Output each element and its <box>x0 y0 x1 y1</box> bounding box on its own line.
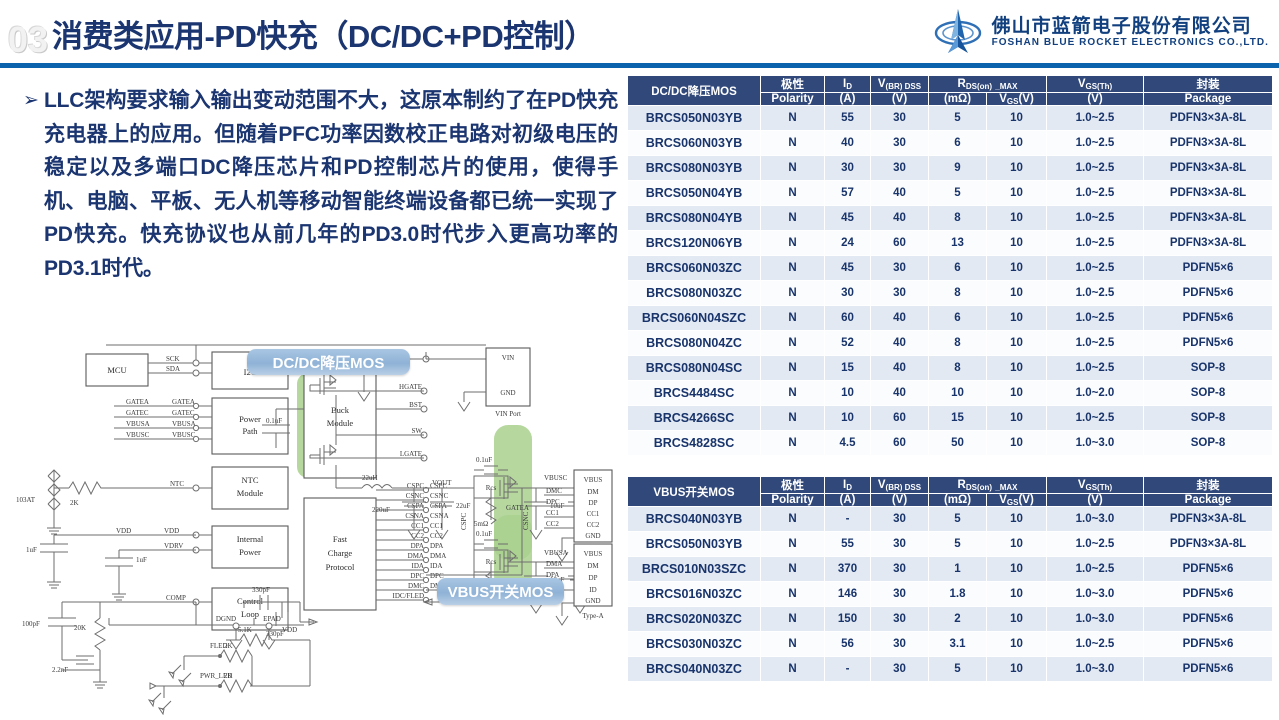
table-cell: 10 <box>987 331 1047 356</box>
svg-text:220uF: 220uF <box>372 506 390 514</box>
table-cell: SOP-8 <box>1144 406 1273 431</box>
table-cell: 5 <box>929 181 987 206</box>
svg-text:CC1: CC1 <box>587 510 600 518</box>
svg-text:SCK: SCK <box>166 355 180 363</box>
part-number-cell: BRCS4828SC <box>628 431 761 456</box>
bullet-paragraph: ➢ LLC架构要求输入输出变动范围不大，这原本制约了在PD快充充电器上的应用。但… <box>18 84 618 285</box>
part-number-cell: BRCS010N03SZC <box>628 557 761 582</box>
svg-text:CSNA: CSNA <box>405 512 424 520</box>
table-cell: N <box>761 657 825 682</box>
svg-text:DPC: DPC <box>410 572 424 580</box>
table-cell: PDFN5×6 <box>1144 632 1273 657</box>
svg-text:Loop: Loop <box>241 609 259 619</box>
table-cell: N <box>761 206 825 231</box>
table-cell: PDFN3×3A-8L <box>1144 206 1273 231</box>
svg-text:MCU: MCU <box>107 365 126 375</box>
svg-text:Module: Module <box>237 488 264 498</box>
svg-text:5.1K: 5.1K <box>238 626 252 634</box>
svg-text:CC1: CC1 <box>546 509 559 517</box>
table-cell: 15 <box>929 406 987 431</box>
table-cell: 30 <box>871 607 929 632</box>
svg-text:IDA: IDA <box>430 562 442 570</box>
table-cell: 10 <box>825 381 871 406</box>
svg-text:GATEC: GATEC <box>126 409 149 417</box>
header-id-unit: (A) <box>825 93 871 106</box>
table-cell: N <box>761 131 825 156</box>
company-logo: 佛山市蓝箭电子股份有限公司 FOSHAN BLUE ROCKET ELECTRO… <box>932 6 1269 58</box>
table-cell: 60 <box>825 306 871 331</box>
table-cell: 50 <box>929 431 987 456</box>
svg-text:NTC: NTC <box>170 480 184 488</box>
table-cell: - <box>825 507 871 532</box>
table-cell: 370 <box>825 557 871 582</box>
svg-text:VDD: VDD <box>282 626 297 634</box>
svg-text:VOUT: VOUT <box>432 479 452 487</box>
table-cell: 9 <box>929 156 987 181</box>
header-vgsth: VGS(Th) <box>1047 477 1144 494</box>
dcdc-buck-mos-table: DC/DC降压MOS 极性 ID V(BR) DSS RDS(on) _MAX … <box>627 75 1273 456</box>
table-cell: PDFN5×6 <box>1144 306 1273 331</box>
svg-text:GATEC: GATEC <box>172 409 195 417</box>
table-cell: 1.0~2.5 <box>1047 206 1144 231</box>
svg-text:IDA: IDA <box>412 562 424 570</box>
table-cell: 10 <box>825 406 871 431</box>
table-cell: 30 <box>871 557 929 582</box>
table-cell: 1.0~2.5 <box>1047 281 1144 306</box>
table-cell: 10 <box>987 206 1047 231</box>
table-cell: 10 <box>987 431 1047 456</box>
table-cell: 10 <box>987 256 1047 281</box>
table-cell: N <box>761 106 825 131</box>
part-number-cell: BRCS050N03YB <box>628 106 761 131</box>
table-cell: 150 <box>825 607 871 632</box>
svg-text:DMA: DMA <box>546 560 562 568</box>
table-cell: 5 <box>929 657 987 682</box>
part-number-cell: BRCS016N03ZC <box>628 582 761 607</box>
table-cell: 45 <box>825 206 871 231</box>
table-cell: 56 <box>825 632 871 657</box>
table-cell: SOP-8 <box>1144 381 1273 406</box>
company-name-en: FOSHAN BLUE ROCKET ELECTRONICS CO.,LTD. <box>992 37 1269 49</box>
table-cell: PDFN5×6 <box>1144 256 1273 281</box>
table-row: BRCS4828SCN4.56050101.0~3.0SOP-8 <box>628 431 1273 456</box>
table-row: BRCS080N04ZCN52408101.0~2.5PDFN5×6 <box>628 331 1273 356</box>
table-cell: N <box>761 582 825 607</box>
table-cell: N <box>761 406 825 431</box>
table-cell: N <box>761 607 825 632</box>
table-row: BRCS050N03YBN55305101.0~2.5PDFN3×3A-8L <box>628 106 1273 131</box>
table-cell: 10 <box>987 181 1047 206</box>
table-cell: 1 <box>929 557 987 582</box>
table-cell: 15 <box>825 356 871 381</box>
svg-text:VIN: VIN <box>502 354 514 362</box>
svg-text:Type-A: Type-A <box>582 612 603 620</box>
table-cell: N <box>761 381 825 406</box>
svg-text:330pF: 330pF <box>252 586 270 594</box>
table-cell: 1.0~2.5 <box>1047 331 1144 356</box>
table-cell: 1.0~2.5 <box>1047 406 1144 431</box>
table-cell: N <box>761 632 825 657</box>
table-cell: 10 <box>987 281 1047 306</box>
table-cell: N <box>761 431 825 456</box>
part-number-cell: BRCS040N03ZC <box>628 657 761 682</box>
header-package-cn: 封装 <box>1144 76 1273 93</box>
table-cell: PDFN3×3A-8L <box>1144 181 1273 206</box>
table-cell: 30 <box>825 281 871 306</box>
table-cell: 1.8 <box>929 582 987 607</box>
table-row: BRCS060N03ZCN45306101.0~2.5PDFN5×6 <box>628 256 1273 281</box>
table-cell: 40 <box>871 306 929 331</box>
header-vbrdss: V(BR) DSS <box>871 76 929 93</box>
header-rdson-unit: (mΩ) <box>929 93 987 106</box>
table-cell: SOP-8 <box>1144 431 1273 456</box>
part-number-cell: BRCS4266SC <box>628 406 761 431</box>
header-rdson-unit: (mΩ) <box>929 494 987 507</box>
svg-text:GND: GND <box>585 532 600 540</box>
svg-text:DPA: DPA <box>430 542 443 550</box>
svg-text:DMA: DMA <box>430 552 446 560</box>
table-row: BRCS060N03YBN40306101.0~2.5PDFN3×3A-8L <box>628 131 1273 156</box>
table-cell: 10 <box>987 131 1047 156</box>
table-cell: PDFN5×6 <box>1144 657 1273 682</box>
table-cell: 1.0~2.5 <box>1047 131 1144 156</box>
table-cell: 10 <box>987 607 1047 632</box>
table-cell: 40 <box>871 381 929 406</box>
table-cell: 24 <box>825 231 871 256</box>
table-cell: PDFN3×3A-8L <box>1144 106 1273 131</box>
bullet-text: LLC架构要求输入输出变动范围不大，这原本制约了在PD快充充电器上的应用。但随着… <box>44 84 618 285</box>
part-number-cell: BRCS080N03ZC <box>628 281 761 306</box>
part-number-cell: BRCS050N03YB <box>628 532 761 557</box>
svg-text:DGND: DGND <box>216 615 236 623</box>
table-cell: 5 <box>929 507 987 532</box>
table-row: BRCS080N04SCN15408101.0~2.5SOP-8 <box>628 356 1273 381</box>
table-cell: 10 <box>987 231 1047 256</box>
table-cell: PDFN3×3A-8L <box>1144 156 1273 181</box>
table-cell: 10 <box>987 156 1047 181</box>
svg-text:CC1: CC1 <box>430 522 443 530</box>
table-cell: 52 <box>825 331 871 356</box>
header-package-en: Package <box>1144 93 1273 106</box>
svg-text:Protocol: Protocol <box>326 562 355 572</box>
svg-text:Power: Power <box>239 414 261 424</box>
part-number-cell: BRCS060N03YB <box>628 131 761 156</box>
table-cell: 30 <box>825 156 871 181</box>
table-cell: 1.0~2.5 <box>1047 106 1144 131</box>
table-row: BRCS4266SCN106015101.0~2.5SOP-8 <box>628 406 1273 431</box>
svg-text:VBUSA: VBUSA <box>172 420 196 428</box>
table-cell: N <box>761 156 825 181</box>
table-cell: 146 <box>825 582 871 607</box>
header-id-unit: (A) <box>825 494 871 507</box>
svg-text:DPA: DPA <box>411 542 424 550</box>
table-cell: 10 <box>987 406 1047 431</box>
table-cell: 40 <box>871 206 929 231</box>
table-cell: N <box>761 256 825 281</box>
table1-body: BRCS050N03YBN55305101.0~2.5PDFN3×3A-8LBR… <box>628 106 1273 456</box>
table-cell: 60 <box>871 406 929 431</box>
table-row: BRCS020N03ZCN150302101.0~3.0PDFN5×6 <box>628 607 1273 632</box>
svg-text:22uH: 22uH <box>362 474 378 482</box>
table-cell: 10 <box>987 507 1047 532</box>
svg-text:VBUSC: VBUSC <box>126 431 150 439</box>
table-cell: 10 <box>987 356 1047 381</box>
svg-text:DP: DP <box>589 499 598 507</box>
table-row: BRCS050N04YBN57405101.0~2.5PDFN3×3A-8L <box>628 181 1273 206</box>
svg-text:1uF: 1uF <box>26 546 37 554</box>
svg-text:VIN Port: VIN Port <box>495 410 521 418</box>
table-cell: 10 <box>987 632 1047 657</box>
part-number-cell: BRCS030N03ZC <box>628 632 761 657</box>
header-polarity-cn: 极性 <box>761 477 825 494</box>
table-header-row-1: DC/DC降压MOS 极性 ID V(BR) DSS RDS(on) _MAX … <box>628 76 1273 93</box>
part-number-cell: BRCS050N04YB <box>628 181 761 206</box>
table-row: BRCS060N04SZCN60406101.0~2.5PDFN5×6 <box>628 306 1273 331</box>
table-cell: PDFN3×3A-8L <box>1144 532 1273 557</box>
table1-title-cell: DC/DC降压MOS <box>628 76 761 106</box>
header-vgsth-unit: (V) <box>1047 93 1144 106</box>
table-cell: N <box>761 331 825 356</box>
table-cell: PDFN5×6 <box>1144 607 1273 632</box>
page-title: 消费类应用-PD快充（DC/DC+PD控制） <box>52 17 595 57</box>
table-cell: N <box>761 281 825 306</box>
svg-text:CSNC: CSNC <box>430 492 449 500</box>
table-cell: 6 <box>929 306 987 331</box>
table-cell: 8 <box>929 331 987 356</box>
table-cell: 30 <box>871 281 929 306</box>
svg-text:LGATE: LGATE <box>400 450 422 458</box>
table-cell: 5 <box>929 532 987 557</box>
svg-text:Module: Module <box>327 418 354 428</box>
header-package-cn: 封装 <box>1144 477 1273 494</box>
table-cell: 40 <box>871 331 929 356</box>
table-cell: 1.0~3.0 <box>1047 431 1144 456</box>
svg-text:5mΩ: 5mΩ <box>474 520 488 528</box>
table-cell: 4.5 <box>825 431 871 456</box>
table-cell: PDFN3×3A-8L <box>1144 131 1273 156</box>
vbus-switch-mos-table: VBUS开关MOS 极性 ID V(BR) DSS RDS(on) _MAX V… <box>627 476 1273 682</box>
table-cell: 10 <box>987 582 1047 607</box>
header-rdson: RDS(on) _MAX <box>929 477 1047 494</box>
svg-text:20K: 20K <box>74 624 86 632</box>
header-vbrdss-unit: (V) <box>871 494 929 507</box>
table-row: BRCS030N03ZCN56303.1101.0~2.5PDFN5×6 <box>628 632 1273 657</box>
table-cell: 60 <box>871 431 929 456</box>
table-row: BRCS050N03YBN55305101.0~2.5PDFN3×3A-8L <box>628 532 1273 557</box>
part-number-cell: BRCS080N04SC <box>628 356 761 381</box>
svg-text:Buck: Buck <box>331 405 350 415</box>
svg-text:Fast: Fast <box>333 534 348 544</box>
svg-text:VBUSA: VBUSA <box>544 549 568 557</box>
svg-text:CSNA: CSNA <box>430 512 449 520</box>
svg-text:VDRV: VDRV <box>164 542 183 550</box>
header-id: ID <box>825 477 871 494</box>
svg-text:GATEA: GATEA <box>126 398 149 406</box>
table-cell: 10 <box>987 657 1047 682</box>
header-vgsth: VGS(Th) <box>1047 76 1144 93</box>
section-number: 03 <box>8 20 48 60</box>
part-number-cell: BRCS060N04SZC <box>628 306 761 331</box>
svg-text:IDC/FLED: IDC/FLED <box>393 592 425 600</box>
svg-text:SDA: SDA <box>166 365 180 373</box>
table-cell: 10 <box>987 106 1047 131</box>
svg-text:DPC: DPC <box>546 498 560 506</box>
table-header-row-1: VBUS开关MOS 极性 ID V(BR) DSS RDS(on) _MAX V… <box>628 477 1273 494</box>
table-cell: N <box>761 557 825 582</box>
blue-rocket-arrow-logo-icon <box>932 6 984 58</box>
table-row: BRCS120N06YBN246013101.0~2.5PDFN3×3A-8L <box>628 231 1273 256</box>
bullet-arrow-icon: ➢ <box>18 84 44 285</box>
svg-text:HGATE: HGATE <box>399 383 422 391</box>
svg-text:VBUSA: VBUSA <box>126 420 150 428</box>
table-row: BRCS4484SCN104010101.0~2.0SOP-8 <box>628 381 1273 406</box>
svg-text:CC1: CC1 <box>411 522 424 530</box>
table-cell: 55 <box>825 106 871 131</box>
application-circuit-schematic: .w{fill:none;stroke:#6e6e6e;stroke-width… <box>14 330 618 715</box>
svg-text:2K: 2K <box>70 499 79 507</box>
svg-text:NTC: NTC <box>242 475 259 485</box>
svg-text:ID: ID <box>589 586 596 594</box>
table-row: BRCS040N03YBN-305101.0~3.0PDFN3×3A-8L <box>628 507 1273 532</box>
table-cell: PDFN3×3A-8L <box>1144 507 1273 532</box>
table-cell: N <box>761 306 825 331</box>
svg-text:22uF: 22uF <box>456 502 471 510</box>
svg-text:VDD: VDD <box>116 527 131 535</box>
table-cell: 6 <box>929 131 987 156</box>
table-cell: 30 <box>871 632 929 657</box>
table-cell: 1.0~2.5 <box>1047 632 1144 657</box>
table-cell: 30 <box>871 131 929 156</box>
table-cell: N <box>761 532 825 557</box>
svg-text:CSNC: CSNC <box>522 511 530 530</box>
table-cell: 1.0~2.5 <box>1047 256 1144 281</box>
part-number-cell: BRCS4484SC <box>628 381 761 406</box>
svg-text:DP: DP <box>589 574 598 582</box>
table-cell: 30 <box>871 582 929 607</box>
dcdc-buck-mos-callout: DC/DC降压MOS <box>247 349 410 375</box>
header-vgs-v: VGS(V) <box>987 93 1047 106</box>
header-id: ID <box>825 76 871 93</box>
svg-text:CSPC: CSPC <box>407 482 424 490</box>
header-package-en: Package <box>1144 494 1273 507</box>
svg-text:Power: Power <box>239 547 261 557</box>
table-cell: N <box>761 231 825 256</box>
svg-text:CSNC: CSNC <box>406 492 425 500</box>
table-cell: 13 <box>929 231 987 256</box>
table-row: BRCS010N03SZCN370301101.0~2.5PDFN5×6 <box>628 557 1273 582</box>
svg-text:VDD: VDD <box>164 527 179 535</box>
table-cell: 40 <box>871 181 929 206</box>
svg-text:VBUS: VBUS <box>584 476 603 484</box>
svg-text:VBUSC: VBUSC <box>172 431 196 439</box>
part-number-cell: BRCS020N03ZC <box>628 607 761 632</box>
table-cell: 6 <box>929 256 987 281</box>
table-cell: - <box>825 657 871 682</box>
part-number-cell: BRCS060N03ZC <box>628 256 761 281</box>
table-cell: 30 <box>871 532 929 557</box>
slide-root: 03 消费类应用-PD快充（DC/DC+PD控制） 佛山市蓝箭电子股份有限公司 … <box>0 0 1279 720</box>
table-cell: N <box>761 181 825 206</box>
svg-text:GND: GND <box>500 389 515 397</box>
table-cell: 8 <box>929 206 987 231</box>
table-cell: 1.0~3.0 <box>1047 657 1144 682</box>
header-polarity-cn: 极性 <box>761 76 825 93</box>
table-cell: 3.1 <box>929 632 987 657</box>
table2-title-cell: VBUS开关MOS <box>628 477 761 507</box>
svg-text:VBUS: VBUS <box>584 550 603 558</box>
table-cell: PDFN3×3A-8L <box>1144 231 1273 256</box>
svg-text:EPAD: EPAD <box>263 615 281 623</box>
table-cell: 8 <box>929 281 987 306</box>
table-cell: 10 <box>987 381 1047 406</box>
svg-text:CSPC: CSPC <box>460 513 468 530</box>
table2-body: BRCS040N03YBN-305101.0~3.0PDFN3×3A-8LBRC… <box>628 507 1273 682</box>
table-row: BRCS080N04YBN45408101.0~2.5PDFN3×3A-8L <box>628 206 1273 231</box>
svg-text:0.1uF: 0.1uF <box>476 530 492 538</box>
svg-text:DM: DM <box>587 562 599 570</box>
table-cell: 1.0~2.5 <box>1047 156 1144 181</box>
table-cell: 1.0~2.5 <box>1047 306 1144 331</box>
header-divider <box>0 63 1279 68</box>
table-cell: 1.0~3.0 <box>1047 507 1144 532</box>
svg-text:CC2: CC2 <box>546 520 559 528</box>
svg-text:DM: DM <box>587 488 599 496</box>
svg-text:0.1uF: 0.1uF <box>476 456 492 464</box>
svg-text:GATEA: GATEA <box>172 398 195 406</box>
svg-text:BST: BST <box>409 401 423 409</box>
table-row: BRCS080N03YBN30309101.0~2.5PDFN3×3A-8L <box>628 156 1273 181</box>
table-cell: 30 <box>871 256 929 281</box>
part-number-cell: BRCS080N04ZC <box>628 331 761 356</box>
table-cell: 1.0~2.5 <box>1047 356 1144 381</box>
table-cell: 10 <box>987 532 1047 557</box>
table-cell: N <box>761 356 825 381</box>
svg-text:DMC: DMC <box>408 582 424 590</box>
header-polarity-en: Polarity <box>761 93 825 106</box>
svg-text:Path: Path <box>242 426 258 436</box>
table-cell: 1.0~2.5 <box>1047 181 1144 206</box>
header-vbrdss-unit: (V) <box>871 93 929 106</box>
table-cell: 40 <box>825 131 871 156</box>
table-cell: 1.0~2.5 <box>1047 532 1144 557</box>
company-name-cn: 佛山市蓝箭电子股份有限公司 <box>992 16 1269 37</box>
svg-text:100pF: 100pF <box>22 620 40 628</box>
svg-text:2K: 2K <box>224 672 233 680</box>
table-cell: 10 <box>987 557 1047 582</box>
part-number-cell: BRCS080N03YB <box>628 156 761 181</box>
table-cell: 60 <box>871 231 929 256</box>
svg-text:1uF: 1uF <box>136 556 147 564</box>
svg-text:Charge: Charge <box>328 548 353 558</box>
svg-text:COMP: COMP <box>166 594 186 602</box>
table-cell: 55 <box>825 532 871 557</box>
header-vgsth-unit: (V) <box>1047 494 1144 507</box>
header-vgs-v: VGS(V) <box>987 494 1047 507</box>
table-cell: 1.0~3.0 <box>1047 607 1144 632</box>
part-number-cell: BRCS080N04YB <box>628 206 761 231</box>
svg-text:Internal: Internal <box>237 534 264 544</box>
table-cell: PDFN5×6 <box>1144 582 1273 607</box>
header-vbrdss: V(BR) DSS <box>871 477 929 494</box>
table-cell: 1.0~3.0 <box>1047 582 1144 607</box>
table-cell: PDFN5×6 <box>1144 281 1273 306</box>
table-cell: 30 <box>871 507 929 532</box>
table-cell: 2 <box>929 607 987 632</box>
table-cell: 8 <box>929 356 987 381</box>
table-cell: 57 <box>825 181 871 206</box>
table-cell: 1.0~2.5 <box>1047 231 1144 256</box>
svg-text:CC2: CC2 <box>587 521 600 529</box>
